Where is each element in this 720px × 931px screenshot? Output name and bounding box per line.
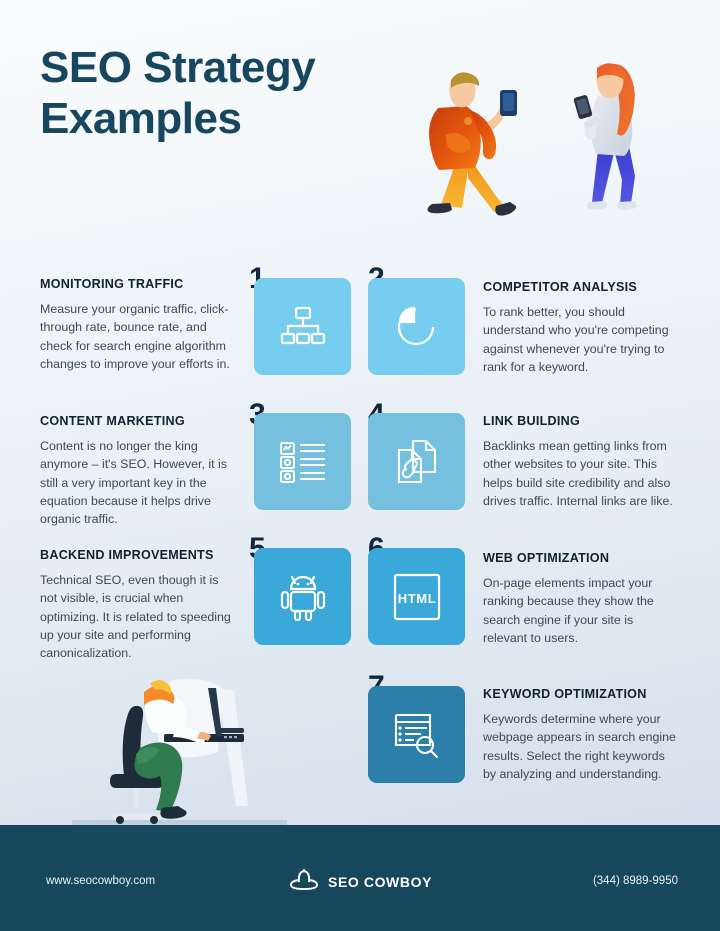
item-heading-6: WEB OPTIMIZATION	[483, 551, 679, 565]
item-tile-3[interactable]	[254, 413, 351, 510]
page-title-line-1: SEO Strategy	[40, 42, 400, 93]
woman-figure	[573, 63, 637, 210]
item-text-7: KEYWORD OPTIMIZATION Keywords determine …	[483, 687, 679, 783]
browser-search-icon	[392, 711, 442, 759]
footer-website-link[interactable]: www.seocowboy.com	[46, 875, 155, 887]
item-tile-2[interactable]	[368, 278, 465, 375]
page-title-line-2: Examples	[40, 93, 400, 144]
item-text-3: CONTENT MARKETING Content is no longer t…	[40, 414, 236, 529]
document-link-icon	[393, 439, 441, 485]
svg-text:HTML: HTML	[397, 591, 436, 606]
footer-brand: SEO COWBOY	[289, 867, 432, 896]
item-body-2: To rank better, you should understand wh…	[483, 303, 679, 376]
android-robot-icon	[280, 573, 326, 621]
item-body-3: Content is no longer the king anymore – …	[40, 437, 236, 529]
content-list-icon	[279, 440, 327, 484]
item-heading-7: KEYWORD OPTIMIZATION	[483, 687, 679, 701]
item-tile-6[interactable]: HTML	[368, 548, 465, 645]
item-tile-7[interactable]	[368, 686, 465, 783]
item-text-5: BACKEND IMPROVEMENTS Technical SEO, even…	[40, 548, 236, 663]
item-text-4: LINK BUILDING Backlinks mean getting lin…	[483, 414, 679, 510]
hierarchy-icon	[280, 305, 326, 349]
pie-chart-icon	[394, 304, 440, 350]
man-figure	[428, 72, 518, 215]
two-people-with-phones-illustration	[408, 38, 698, 243]
page-title: SEO Strategy Examples	[40, 42, 400, 144]
footer-phone-number[interactable]: (344) 8989-9950	[593, 875, 678, 887]
item-text-6: WEB OPTIMIZATION On-page elements impact…	[483, 551, 679, 647]
item-body-7: Keywords determine where your webpage ap…	[483, 710, 679, 783]
item-text-1: MONITORING TRAFFIC Measure your organic …	[40, 277, 236, 373]
page-footer: www.seocowboy.com SEO COWBOY (344) 8989-…	[0, 825, 720, 931]
item-tile-4[interactable]	[368, 413, 465, 510]
item-heading-4: LINK BUILDING	[483, 414, 679, 428]
footer-brand-name: SEO COWBOY	[328, 874, 432, 890]
item-body-1: Measure your organic traffic, click-thro…	[40, 300, 236, 373]
item-tile-5[interactable]	[254, 548, 351, 645]
item-text-2: COMPETITOR ANALYSIS To rank better, you …	[483, 280, 679, 376]
item-heading-5: BACKEND IMPROVEMENTS	[40, 548, 236, 562]
item-body-6: On-page elements impact your ranking bec…	[483, 574, 679, 647]
item-body-4: Backlinks mean getting links from other …	[483, 437, 679, 510]
item-tile-1[interactable]	[254, 278, 351, 375]
html-box-icon: HTML	[392, 572, 442, 622]
item-heading-2: COMPETITOR ANALYSIS	[483, 280, 679, 294]
infographic-poster: SEO Strategy Examples	[0, 0, 720, 931]
person-at-desk-illustration	[72, 668, 287, 828]
item-heading-1: MONITORING TRAFFIC	[40, 277, 236, 291]
cowboy-hat-icon	[289, 867, 319, 896]
item-heading-3: CONTENT MARKETING	[40, 414, 236, 428]
item-body-5: Technical SEO, even though it is not vis…	[40, 571, 236, 663]
